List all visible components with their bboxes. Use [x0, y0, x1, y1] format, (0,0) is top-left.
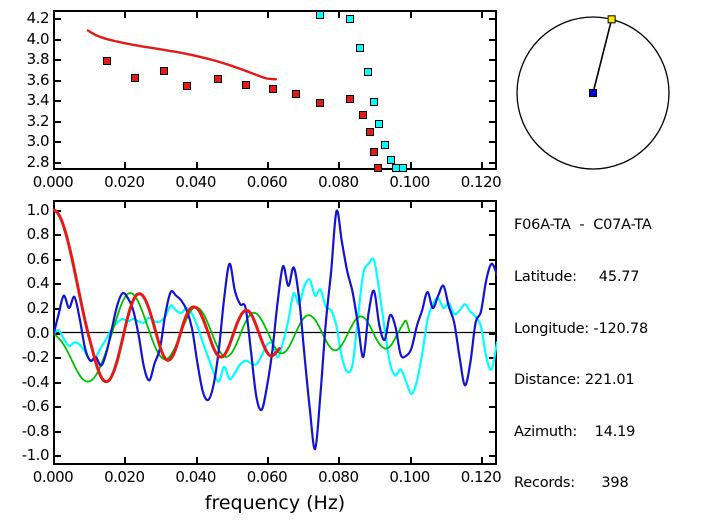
y-tick-label: -1.0: [1, 446, 49, 464]
y-tick-label: -0.6: [1, 397, 49, 415]
azimuth-circle: [510, 0, 702, 180]
data-point-marker: [131, 74, 139, 82]
azimuth-row: Azimuth: 14.19: [514, 424, 652, 441]
y-tick-label: 3.6: [1, 71, 49, 89]
x-tick-label: 0.060: [247, 173, 287, 191]
x-tick-label: 0.100: [389, 173, 429, 191]
data-point-marker: [381, 141, 389, 149]
x-tick-label: 0.020: [104, 173, 144, 191]
y-tick-label: 3.4: [1, 91, 49, 109]
x-tick-label: 0.000: [33, 468, 73, 486]
x-tick-label: 0.020: [104, 468, 144, 486]
data-point-marker: [364, 68, 372, 76]
y-tick-label: -0.4: [1, 373, 49, 391]
y-tick-label: 0.2: [1, 299, 49, 317]
records-row: Records: 398: [514, 475, 652, 492]
y-tick-label: 0.0: [1, 324, 49, 342]
y-tick-label: 3.2: [1, 112, 49, 130]
y-tick-label: 3.0: [1, 132, 49, 150]
station-info-panel: F06A-TA - C07A-TA Latitude: 45.77 Longit…: [510, 180, 702, 300]
figure-root: 2.83.03.23.43.63.84.04.2 0.0000.0200.040…: [0, 0, 702, 519]
y-tick-label: 0.8: [1, 225, 49, 243]
x-tick-label: 0.120: [461, 173, 501, 191]
data-point-marker: [366, 128, 374, 136]
azimuth-map-panel: [510, 0, 702, 180]
data-point-marker: [399, 164, 407, 172]
data-point-marker: [316, 99, 324, 107]
data-point-marker: [316, 11, 324, 19]
y-tick-label: 1.0: [1, 201, 49, 219]
x-tick-label: 0.080: [318, 468, 358, 486]
data-point-marker: [160, 67, 168, 75]
y-tick-label: -0.8: [1, 422, 49, 440]
x-tick-label: 0.040: [175, 173, 215, 191]
data-point-marker: [242, 81, 250, 89]
y-tick-label: 0.4: [1, 274, 49, 292]
data-point-marker: [214, 75, 222, 83]
data-point-marker: [374, 164, 382, 172]
station-pair-label: F06A-TA - C07A-TA: [514, 217, 652, 234]
y-tick-label: 3.8: [1, 50, 49, 68]
station-info-text: F06A-TA - C07A-TA Latitude: 45.77 Longit…: [514, 183, 652, 527]
y-tick-label: 4.2: [1, 9, 49, 27]
data-point-marker: [387, 156, 395, 164]
x-tick-label: 0.060: [247, 468, 287, 486]
longitude-row: Longitude: -120.78: [514, 321, 652, 338]
data-point-marker: [375, 120, 383, 128]
data-point-marker: [269, 85, 277, 93]
y-tick-label: 2.8: [1, 153, 49, 171]
data-point-marker: [370, 148, 378, 156]
station-endpoint-marker: [608, 16, 615, 23]
x-tick-label: 0.100: [389, 468, 429, 486]
data-point-marker: [370, 98, 378, 106]
data-point-marker: [359, 111, 367, 119]
dispersion-plot-panel: 2.83.03.23.43.63.84.04.2 0.0000.0200.040…: [0, 0, 510, 190]
data-point-marker: [103, 57, 111, 65]
data-point-marker: [292, 90, 300, 98]
spectra-curves: [53, 200, 497, 465]
y-tick-label: 0.6: [1, 250, 49, 268]
distance-row: Distance: 221.01: [514, 372, 652, 389]
data-point-marker: [356, 44, 364, 52]
station-center-marker: [590, 90, 597, 97]
data-point-marker: [183, 82, 191, 90]
data-point-marker: [346, 15, 354, 23]
x-tick-label: 0.080: [318, 173, 358, 191]
data-point-marker: [346, 95, 354, 103]
x-tick-label: 0.120: [461, 468, 501, 486]
x-tick-label: 0.040: [175, 468, 215, 486]
x-axis-title: frequency (Hz): [205, 492, 345, 514]
x-tick-label: 0.000: [33, 173, 73, 191]
y-tick-label: 4.0: [1, 30, 49, 48]
spectra-plot-panel: -1.0-0.8-0.6-0.4-0.20.00.20.40.60.81.0 0…: [0, 195, 510, 519]
latitude-row: Latitude: 45.77: [514, 269, 652, 286]
y-tick-label: -0.2: [1, 348, 49, 366]
